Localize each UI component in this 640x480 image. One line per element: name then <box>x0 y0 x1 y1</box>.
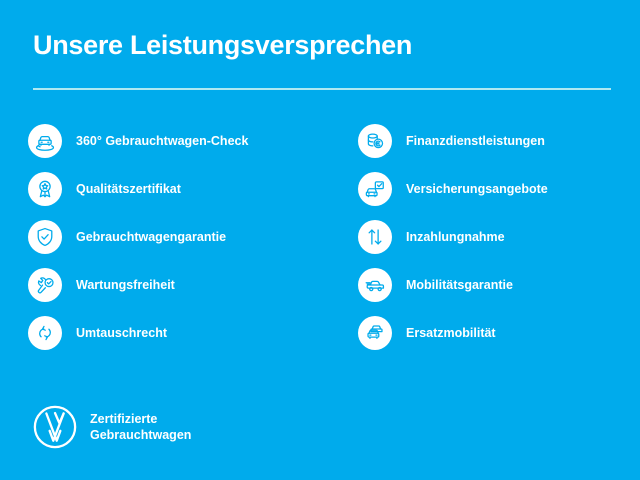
benefit-item-wartungsfreiheit[interactable]: Wartungsfreiheit <box>28 261 320 309</box>
tow-truck-icon <box>358 268 392 302</box>
vw-certified-text: Zertifizierte Gebrauchtwagen <box>90 411 191 443</box>
benefit-item-qualitaetszertifikat[interactable]: Qualitätszertifikat <box>28 165 320 213</box>
arrows-up-down-icon <box>358 220 392 254</box>
benefits-column-left: 360° Gebrauchtwagen-Check Qualitätszerti… <box>0 117 320 357</box>
page-title: Unsere Leistungsversprechen <box>33 28 611 62</box>
wrench-check-icon <box>28 268 62 302</box>
benefit-label: Ersatzmobilität <box>406 325 496 341</box>
car-360-check-icon <box>28 124 62 158</box>
benefit-item-umtauschrecht[interactable]: Umtauschrecht <box>28 309 320 357</box>
two-cars-icon <box>358 316 392 350</box>
benefit-item-gebrauchtwagen-check[interactable]: 360° Gebrauchtwagen-Check <box>28 117 320 165</box>
vw-certified-line2: Gebrauchtwagen <box>90 427 191 443</box>
vw-certified-line1: Zertifizierte <box>90 411 191 427</box>
award-medal-icon <box>28 172 62 206</box>
car-document-check-icon <box>358 172 392 206</box>
benefit-item-gebrauchtwagengarantie[interactable]: Gebrauchtwagengarantie <box>28 213 320 261</box>
benefit-item-versicherungsangebote[interactable]: Versicherungsangebote <box>358 165 640 213</box>
benefit-label: Qualitätszertifikat <box>76 181 181 197</box>
benefit-item-finanzdienstleistungen[interactable]: Finanzdienstleistungen <box>358 117 640 165</box>
benefits-columns: 360° Gebrauchtwagen-Check Qualitätszerti… <box>0 117 640 357</box>
promise-panel: Unsere Leistungsversprechen 360° Gebrauc… <box>0 0 640 480</box>
benefit-label: Umtauschrecht <box>76 325 167 341</box>
benefit-item-ersatzmobilitaet[interactable]: Ersatzmobilität <box>358 309 640 357</box>
benefit-item-mobilitaetsgarantie[interactable]: Mobilitätsgarantie <box>358 261 640 309</box>
coins-euro-icon <box>358 124 392 158</box>
exchange-arrows-icon <box>28 316 62 350</box>
benefit-item-inzahlungnahme[interactable]: Inzahlungnahme <box>358 213 640 261</box>
header: Unsere Leistungsversprechen <box>33 28 611 62</box>
benefit-label: Gebrauchtwagengarantie <box>76 229 226 245</box>
vw-logo-icon <box>32 404 78 450</box>
benefit-label: Mobilitätsgarantie <box>406 277 513 293</box>
header-divider <box>33 88 611 90</box>
benefits-column-right: Finanzdienstleistungen Versicherungsange… <box>320 117 640 357</box>
vw-certified-lockup: Zertifizierte Gebrauchtwagen <box>32 404 191 450</box>
benefit-label: Versicherungsangebote <box>406 181 548 197</box>
benefit-label: 360° Gebrauchtwagen-Check <box>76 133 248 149</box>
benefit-label: Finanzdienstleistungen <box>406 133 545 149</box>
benefit-label: Inzahlungnahme <box>406 229 505 245</box>
benefit-label: Wartungsfreiheit <box>76 277 175 293</box>
shield-check-icon <box>28 220 62 254</box>
